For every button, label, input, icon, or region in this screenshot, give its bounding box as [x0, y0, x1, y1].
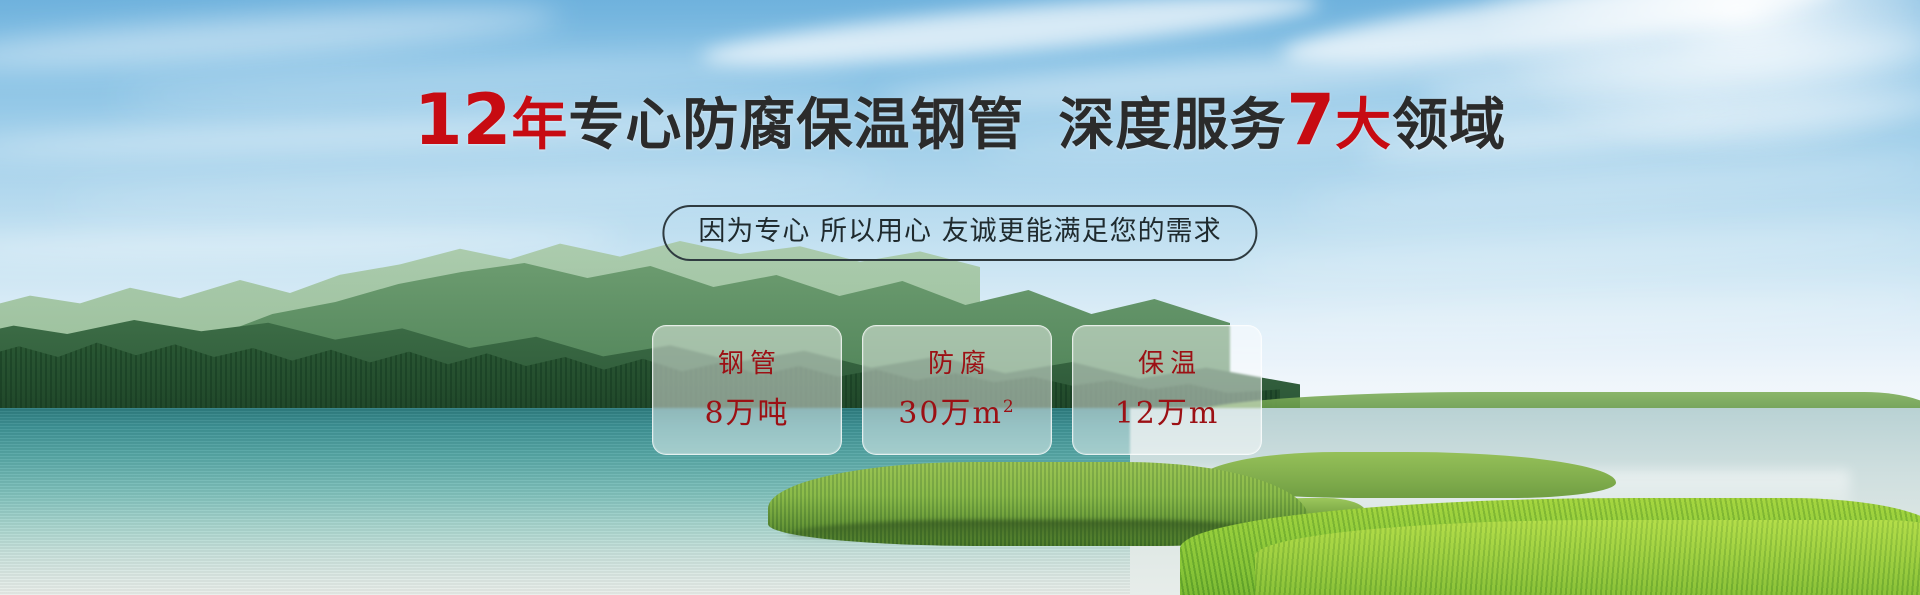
stat-card-steel-pipe[interactable]: 钢管 8万吨 — [652, 325, 842, 455]
stat-card-title: 防腐 — [922, 349, 992, 379]
stat-card-value: 12万m — [1115, 397, 1220, 431]
headline-tail-segment: 领域 — [1392, 93, 1506, 158]
stat-card-value-superscript: 2 — [1003, 397, 1016, 417]
stat-card-value-base: 30万m — [898, 396, 1003, 431]
headline-years-unit: 年 — [511, 93, 568, 158]
headline-domains-unit: 大 — [1335, 93, 1392, 158]
banner-headline: 12年专心防腐保温钢管深度服务7大领域 — [0, 88, 1920, 158]
stat-card-anticorrosion[interactable]: 防腐 30万m2 — [862, 325, 1052, 455]
headline-main-segment: 专心防腐保温钢管 — [568, 93, 1024, 158]
headline-domains-number: 7 — [1286, 79, 1335, 161]
stat-card-value-base: 8万吨 — [704, 396, 789, 431]
stat-card-title: 保温 — [1132, 349, 1202, 379]
banner-subtitle-pill: 因为专心 所以用心 友诚更能满足您的需求 — [662, 205, 1257, 261]
stat-card-insulation[interactable]: 保温 12万m — [1072, 325, 1262, 455]
stat-card-value: 8万吨 — [704, 397, 789, 431]
stat-card-list: 钢管 8万吨 防腐 30万m2 保温 12万m — [652, 325, 1262, 455]
stat-card-value: 30万m2 — [898, 397, 1015, 431]
banner-content: 12年专心防腐保温钢管深度服务7大领域 因为专心 所以用心 友诚更能满足您的需求… — [0, 0, 1920, 595]
stat-card-title: 钢管 — [712, 349, 782, 379]
headline-years-number: 12 — [414, 79, 511, 161]
promo-banner: 12年专心防腐保温钢管深度服务7大领域 因为专心 所以用心 友诚更能满足您的需求… — [0, 0, 1920, 595]
stat-card-value-base: 12万m — [1115, 396, 1220, 431]
headline-service-segment: 深度服务 — [1058, 93, 1286, 158]
